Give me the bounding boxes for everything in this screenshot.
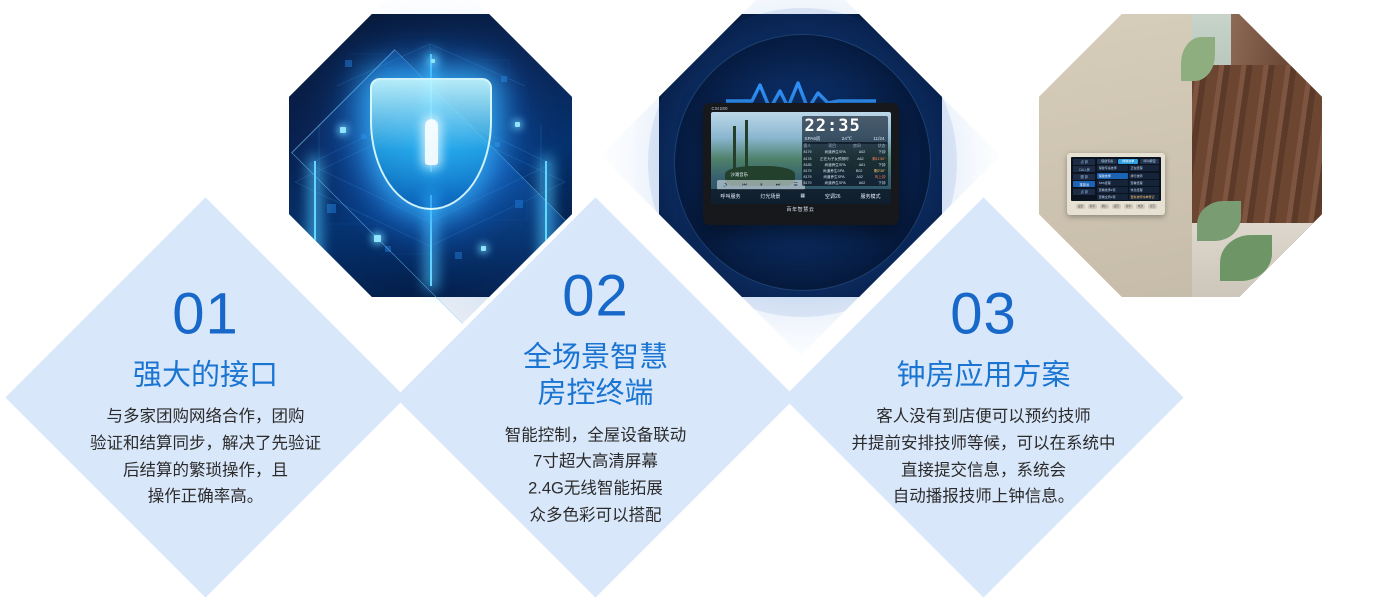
volume-icon[interactable]: 🔈 — [723, 182, 729, 188]
side-key[interactable]: 点 钟 — [1073, 189, 1095, 195]
cell-status: 叫上钟 — [875, 175, 886, 180]
cell-item: 尚道养生SPA — [823, 169, 844, 174]
hw-button[interactable]: 电源 — [1136, 204, 1145, 209]
tab-health-plan[interactable]: 保健专案 — [1097, 159, 1117, 165]
tab-call-button[interactable]: 呼叫按钮 — [1140, 159, 1160, 165]
tablet-bottom-toolbar[interactable]: 呼叫服务 灯光场景 ▦ 空调26 服务模式 — [711, 189, 891, 204]
table-row: 8179 尚道养生SPA A02 下钟 — [804, 181, 886, 186]
glow-dot — [481, 246, 486, 251]
clock-time: 22:35 — [805, 118, 885, 135]
cell-room: A62 — [857, 157, 863, 162]
side-key[interactable]: 点 钟 — [1073, 159, 1095, 165]
wall-mounted-control-panel[interactable]: 点 钟 CALL房 圈 钟 排钟派 点 钟 保健专案 排钟派单 呼叫按钮 — [1067, 153, 1165, 215]
menu-item[interactable]: 查看经理 — [1129, 180, 1159, 186]
column-header-status: 状态 — [878, 144, 886, 149]
cell-status: 下钟 — [878, 181, 885, 186]
column-header-guest: 客人 — [804, 144, 812, 149]
table-row: 8185 尚道养生SPA A61 下钟 — [804, 163, 886, 168]
panel-side-keys[interactable]: 点 钟 CALL房 圈 钟 排钟派 点 钟 — [1073, 159, 1095, 199]
toolbar-light-scene[interactable]: 灯光场景 — [760, 193, 780, 200]
table-row: 8179 尚道养生SPA A02 叫上钟 — [804, 175, 886, 180]
apps-grid-icon[interactable]: ▦ — [800, 193, 805, 199]
cell-guest: 8178 — [804, 157, 812, 162]
toolbar-call-service[interactable]: 呼叫服务 — [720, 193, 740, 200]
cell-item: 正在为子女预测时 — [820, 157, 849, 162]
cell-item: 尚道养生SPA — [825, 150, 846, 155]
panel-menu: 保健专案技师 保健技师 SPA经理 查看技师2项 查看全局2项 正在经理 排行技… — [1097, 165, 1159, 200]
hw-button[interactable]: 确认 — [1100, 204, 1109, 209]
next-icon[interactable]: ⏭ — [776, 182, 781, 188]
menu-item[interactable]: 保健专案技师 — [1097, 165, 1127, 171]
hw-button[interactable]: 菜单 — [1124, 204, 1133, 209]
cell-room: A02 — [859, 150, 865, 155]
cell-guest: 8179 — [804, 150, 812, 155]
side-key[interactable]: CALL房 — [1073, 166, 1095, 172]
cell-room: A02 — [859, 181, 865, 186]
glow-dot — [515, 122, 520, 127]
cell-room: A61 — [859, 163, 865, 168]
hw-button[interactable]: 设置 — [1076, 204, 1085, 209]
table-row: 8178 正在为子女预测时 A62 剩11'50" — [804, 157, 886, 162]
tablet-booking-table: 客人 项目 房间 状态 8179 尚道养生SPA A02 下钟 — [802, 142, 888, 186]
cell-room: B02 — [856, 169, 862, 174]
room-control-tablet-illustration: CSI280 沙滩音乐 🔈 ⏮ ⏸ ⏭ ☰ — [659, 14, 942, 297]
menu-item[interactable]: 更新技师派单登记 — [1129, 194, 1159, 200]
panel-menu-right: 正在经理 排行技师 查看经理 休息经理 更新技师派单登记 — [1129, 165, 1159, 200]
panel-tabs[interactable]: 保健专案 排钟派单 呼叫按钮 — [1097, 159, 1159, 165]
feature-description: 与多家团购网络合作，团购 验证和结算同步，解决了先验证 后结算的繁琐操作，且 操… — [41, 403, 371, 510]
glow-dot — [340, 127, 346, 133]
list-icon[interactable]: ☰ — [793, 182, 797, 188]
cell-status: 剩2'30" — [874, 169, 886, 174]
menu-item[interactable]: 休息经理 — [1129, 187, 1159, 193]
screen-overlay-label: 沙滩音乐 — [731, 172, 749, 178]
column-header-item: 项目 — [828, 144, 836, 149]
cell-item: 尚道养生SPA — [825, 163, 846, 168]
feature-description: 智能控制，全屋设备联动 7寸超大高清屏幕 2.4G无线智能拓展 众多色彩可以搭配 — [431, 421, 761, 528]
tree-shape — [733, 126, 736, 172]
toolbar-service-mode[interactable]: 服务模式 — [860, 193, 880, 200]
cell-room: A02 — [856, 175, 862, 180]
cell-guest: 8179 — [804, 175, 812, 180]
menu-item[interactable]: 保健技师 — [1097, 173, 1127, 179]
cell-status: 剩11'50" — [872, 157, 885, 162]
menu-item[interactable]: 排行技师 — [1129, 173, 1159, 179]
tab-dispatch[interactable]: 排钟派单 — [1118, 159, 1138, 165]
room-photo-illustration: 点 钟 CALL房 圈 钟 排钟派 点 钟 保健专案 排钟派单 呼叫按钮 — [1039, 14, 1322, 297]
glow-dot — [374, 235, 381, 242]
feature-number: 03 — [819, 285, 1149, 343]
feature-heading: 强大的接口 — [41, 357, 371, 393]
menu-item[interactable]: 正在经理 — [1129, 165, 1159, 171]
feature-heading: 钟房应用方案 — [819, 357, 1149, 393]
cell-guest: 8179 — [804, 169, 812, 174]
light-beam — [545, 161, 547, 257]
menu-item[interactable]: 查看全局2项 — [1097, 194, 1127, 200]
cell-item: 尚道养生SPA — [823, 175, 844, 180]
feature-number: 01 — [40, 285, 370, 343]
table-row: 8179 尚道养生SPA B02 剩2'30" — [804, 169, 886, 174]
menu-item[interactable]: SPA经理 — [1097, 180, 1127, 186]
table-row: 8179 尚道养生SPA A02 下钟 — [804, 150, 886, 155]
feature-card-01-content: 01 强大的接口 与多家团购网络合作，团购 验证和结算同步，解决了先验证 后结算… — [40, 285, 370, 510]
tablet-model-label: CSI280 — [712, 106, 728, 111]
feature-card-03-content: 03 钟房应用方案 客人没有到店便可以预约技师 并提前安排技师等候，可以在系统中… — [819, 285, 1149, 510]
tablet-clock-widget: 22:35 SPA6房 24℃ 11/24 — [802, 116, 888, 144]
column-header-room: 房间 — [853, 144, 861, 149]
menu-item[interactable]: 查看技师2项 — [1097, 187, 1127, 193]
prev-icon[interactable]: ⏮ — [742, 182, 747, 188]
diamond-feature-grid: CSI280 沙滩音乐 🔈 ⏮ ⏸ ⏭ ☰ — [0, 0, 1381, 603]
toolbar-aircon[interactable]: 空调26 — [825, 193, 841, 200]
tablet-brand-label: 百年智慧云 — [711, 206, 891, 213]
feature-description: 客人没有到店便可以预约技师 并提前安排技师等候，可以在系统中 直接提交信息，系统… — [819, 403, 1149, 510]
side-key[interactable]: 排钟派 — [1073, 181, 1095, 187]
cell-status: 下钟 — [878, 163, 885, 168]
light-beam — [314, 161, 316, 257]
tablet-device: CSI280 沙滩音乐 🔈 ⏮ ⏸ ⏭ ☰ — [703, 103, 899, 225]
hw-button[interactable]: 取消 — [1088, 204, 1097, 209]
cell-guest: 8179 — [804, 181, 812, 186]
feature-heading: 全场景智慧 房控终端 — [431, 339, 761, 412]
panel-screen: 点 钟 CALL房 圈 钟 排钟派 点 钟 保健专案 排钟派单 呼叫按钮 — [1071, 157, 1161, 201]
table-header-row: 客人 项目 房间 状态 — [804, 144, 886, 149]
cell-status: 下钟 — [878, 150, 885, 155]
play-icon[interactable]: ⏸ — [760, 182, 763, 188]
side-key[interactable]: 圈 钟 — [1073, 174, 1095, 180]
tree-shape — [745, 120, 748, 172]
hw-button[interactable]: 返回 — [1112, 204, 1121, 209]
panel-menu-left: 保健专案技师 保健技师 SPA经理 查看技师2项 查看全局2项 — [1097, 165, 1127, 200]
glow-dot — [431, 59, 435, 63]
hw-button[interactable]: 首页 — [1148, 204, 1157, 209]
tablet-screen: 沙滩音乐 🔈 ⏮ ⏸ ⏭ ☰ 22:35 SPA6房 2 — [711, 112, 891, 204]
panel-main-area: 保健专案 排钟派单 呼叫按钮 保健专案技师 保健技师 SPA经理 查看技师2项 — [1097, 159, 1159, 199]
cell-item: 尚道养生SPA — [825, 181, 846, 186]
tech-shield-illustration — [289, 14, 572, 297]
panel-hardware-buttons[interactable]: 设置 取消 确认 返回 菜单 电源 首页 — [1071, 204, 1161, 209]
cell-guest: 8185 — [804, 163, 812, 168]
